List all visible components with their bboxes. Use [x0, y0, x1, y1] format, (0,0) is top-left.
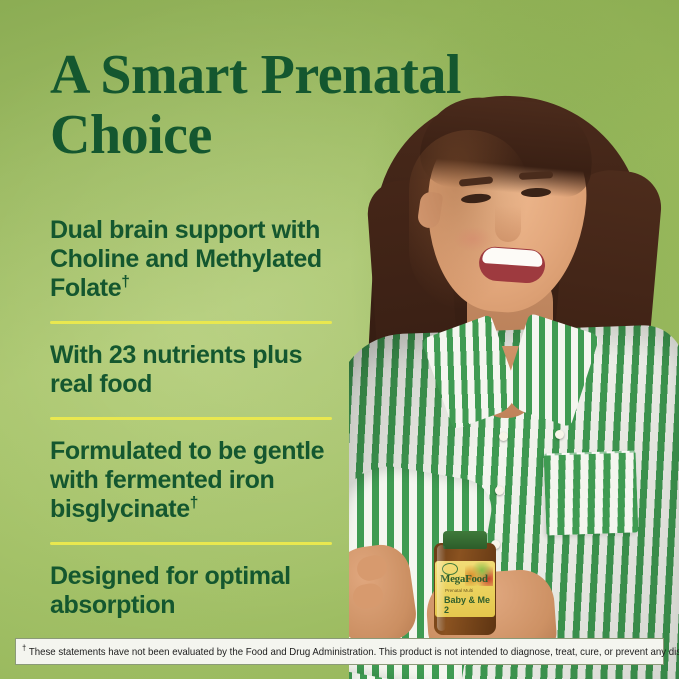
- benefit-text-2: Formulated to be gentle with fermented i…: [50, 437, 350, 524]
- benefit-list: Dual brain support with Choline and Meth…: [50, 216, 350, 620]
- disclaimer-body: These statements have not been evaluated…: [29, 646, 679, 658]
- list-item: With 23 nutrients plus real food: [50, 341, 350, 420]
- divider: [50, 417, 332, 420]
- dagger-icon: †: [121, 274, 129, 291]
- shirt-pocket-button: [555, 430, 564, 439]
- benefit-label: Dual brain support with Choline and Meth…: [50, 216, 322, 302]
- disclaimer-text: † These statements have not been evaluat…: [22, 646, 679, 658]
- bottle-gloss: [437, 545, 446, 631]
- benefit-text-3: Designed for optimal absorption: [50, 562, 350, 620]
- benefit-label: Formulated to be gentle with fermented i…: [50, 437, 324, 523]
- divider: [50, 542, 332, 545]
- benefit-text-0: Dual brain support with Choline and Meth…: [50, 216, 350, 303]
- benefit-text-1: With 23 nutrients plus real food: [50, 341, 350, 399]
- bottle-kicker: Prenatal Multi: [445, 588, 473, 593]
- page-title: A Smart Prenatal Choice: [50, 46, 480, 166]
- benefit-label: With 23 nutrients plus real food: [50, 341, 302, 398]
- bottle-brand-name: MegaFood: [440, 573, 488, 585]
- shirt-pocket: [544, 450, 639, 535]
- shirt-button: [499, 432, 508, 441]
- prenatal-ad-banner: MegaFood Prenatal Multi Baby & Me 2 A Sm…: [0, 0, 679, 679]
- divider: [50, 321, 332, 324]
- teeth: [482, 247, 543, 267]
- bottle-product-name: Baby & Me 2: [444, 595, 495, 615]
- list-item: Formulated to be gentle with fermented i…: [50, 437, 350, 545]
- disclaimer-bar: † These statements have not been evaluat…: [15, 638, 664, 665]
- nose: [495, 206, 521, 242]
- smiling-mouth: [478, 246, 546, 285]
- dagger-icon: †: [22, 642, 26, 652]
- benefit-label: Designed for optimal absorption: [50, 562, 291, 619]
- bottle-cap: [443, 531, 487, 549]
- dagger-icon: †: [190, 495, 198, 512]
- shirt-button: [495, 486, 504, 495]
- product-bottle: MegaFood Prenatal Multi Baby & Me 2: [434, 531, 496, 635]
- list-item: Dual brain support with Choline and Meth…: [50, 216, 350, 324]
- list-item: Designed for optimal absorption: [50, 562, 350, 620]
